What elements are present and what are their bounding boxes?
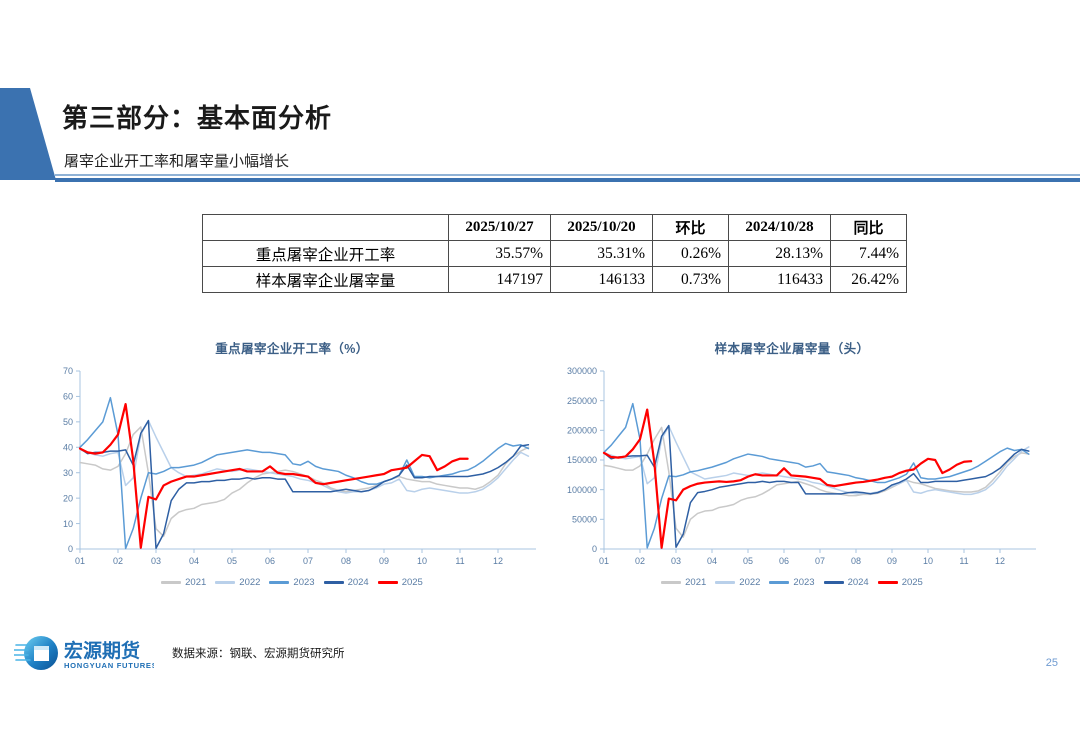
x-tick-label: 11 [455,556,464,566]
company-logo: 宏源期货 HONGYUAN FUTURES [14,634,154,676]
legend-swatch-2024 [324,581,344,583]
y-tick-label: 250000 [567,396,597,406]
header-rule [55,178,1080,182]
table-header-previous-date: 2025/10/20 [551,215,653,241]
legend-label-2023: 2023 [293,577,314,588]
y-tick-label: 100000 [567,485,597,495]
cell-wow-slaughter-volume: 0.73% [653,267,729,293]
legend-item-2021[interactable]: 2021 [661,577,706,588]
x-tick-label: 01 [599,556,609,566]
chart-legend-operating-rate: 20212022202320242025 [42,577,542,588]
logo-text-en: HONGYUAN FUTURES [64,661,154,670]
series-line-2021 [80,427,528,536]
page-title: 第三部分：基本面分析 [62,98,332,135]
header-rule-thin [55,174,1080,176]
legend-label-2025: 2025 [902,577,923,588]
legend-swatch-2023 [769,581,789,583]
x-tick-label: 11 [959,556,968,566]
x-tick-label: 06 [779,556,789,566]
x-tick-label: 02 [113,556,123,566]
plot-svg-slaughter-volume: 0500001000001500002000002500003000000102… [542,365,1042,571]
legend-swatch-2025 [378,581,398,584]
y-tick-label: 60 [63,392,73,402]
x-tick-label: 12 [995,556,1005,566]
legend-label-2024: 2024 [348,577,369,588]
legend-item-2025[interactable]: 2025 [878,577,923,588]
legend-item-2024[interactable]: 2024 [824,577,869,588]
x-tick-label: 09 [379,556,389,566]
series-line-2021 [604,427,1029,537]
legend-swatch-2022 [715,581,735,583]
cell-previous-slaughter-volume: 146133 [551,267,653,293]
plot-area-operating-rate: 010203040506070010203040506070809101112 [42,365,542,571]
y-tick-label: 50 [63,417,73,427]
series-line-2025 [80,404,468,548]
cell-current-slaughter-volume: 147197 [449,267,551,293]
x-tick-label: 08 [341,556,351,566]
legend-label-2024: 2024 [848,577,869,588]
y-tick-label: 150000 [567,455,597,465]
x-tick-label: 08 [851,556,861,566]
y-tick-label: 20 [63,493,73,503]
legend-item-2024[interactable]: 2024 [324,577,369,588]
legend-swatch-2023 [269,581,289,583]
y-tick-label: 0 [68,544,73,554]
legend-swatch-2021 [661,581,681,583]
legend-item-2025[interactable]: 2025 [378,577,423,588]
x-tick-label: 03 [671,556,681,566]
x-tick-label: 10 [923,556,933,566]
y-tick-label: 0 [592,544,597,554]
table-header-wow: 环比 [653,215,729,241]
x-tick-label: 07 [815,556,825,566]
legend-label-2025: 2025 [402,577,423,588]
table-header-row: 2025/10/27 2025/10/20 环比 2024/10/28 同比 [203,215,907,241]
row-label-slaughter-volume: 样本屠宰企业屠宰量 [203,267,449,293]
legend-item-2023[interactable]: 2023 [769,577,814,588]
source-note: 数据来源：钢联、宏源期货研究所 [172,645,345,661]
series-line-2024 [80,421,528,549]
table-header-current-date: 2025/10/27 [449,215,551,241]
row-label-operating-rate: 重点屠宰企业开工率 [203,241,449,267]
cell-year-ago-slaughter-volume: 116433 [729,267,831,293]
legend-item-2023[interactable]: 2023 [269,577,314,588]
legend-label-2022: 2022 [239,577,260,588]
legend-label-2021: 2021 [185,577,206,588]
legend-label-2022: 2022 [739,577,760,588]
plot-area-slaughter-volume: 0500001000001500002000002500003000000102… [542,365,1042,571]
x-tick-label: 04 [707,556,717,566]
chart-title-slaughter-volume: 样本屠宰企业屠宰量（头） [542,336,1042,357]
x-tick-label: 03 [151,556,161,566]
plot-svg-operating-rate: 010203040506070010203040506070809101112 [42,365,542,571]
cell-previous-operating-rate: 35.31% [551,241,653,267]
cell-current-operating-rate: 35.57% [449,241,551,267]
series-line-2022 [80,421,528,493]
legend-item-2022[interactable]: 2022 [715,577,760,588]
chart-slaughter-volume: 样本屠宰企业屠宰量（头） 050000100000150000200000250… [542,336,1042,626]
cell-yoy-slaughter-volume: 26.42% [831,267,907,293]
x-tick-label: 05 [227,556,237,566]
x-tick-label: 02 [635,556,645,566]
chart-operating-rate: 重点屠宰企业开工率（%） 010203040506070010203040506… [42,336,542,626]
chart-legend-slaughter-volume: 20212022202320242025 [542,577,1042,588]
series-line-2022 [604,426,1029,494]
chart-title-operating-rate: 重点屠宰企业开工率（%） [42,336,542,357]
x-tick-label: 05 [743,556,753,566]
y-tick-label: 50000 [572,515,597,525]
logo-text-cn: 宏源期货 [64,639,140,662]
x-tick-label: 10 [417,556,427,566]
y-tick-label: 300000 [567,366,597,376]
y-tick-label: 30 [63,468,73,478]
y-tick-label: 200000 [567,426,597,436]
x-tick-label: 06 [265,556,275,566]
y-tick-label: 70 [63,366,73,376]
logo-mark [14,636,58,670]
table-header-year-ago-date: 2024/10/28 [729,215,831,241]
x-tick-label: 07 [303,556,313,566]
legend-swatch-2025 [878,581,898,584]
y-tick-label: 40 [63,442,73,452]
series-line-2023 [604,404,1029,548]
legend-label-2021: 2021 [685,577,706,588]
cell-yoy-operating-rate: 7.44% [831,241,907,267]
x-tick-label: 04 [189,556,199,566]
legend-item-2021[interactable]: 2021 [161,577,206,588]
legend-item-2022[interactable]: 2022 [215,577,260,588]
y-tick-label: 10 [63,519,73,529]
legend-label-2023: 2023 [793,577,814,588]
page-number: 25 [1046,657,1058,669]
cell-year-ago-operating-rate: 28.13% [729,241,831,267]
series-line-2023 [80,398,528,549]
legend-swatch-2022 [215,581,235,583]
legend-swatch-2024 [824,581,844,583]
table-header-blank [203,215,449,241]
x-tick-label: 01 [75,556,85,566]
page-subtitle: 屠宰企业开工率和屠宰量小幅增长 [64,150,289,171]
summary-table: 2025/10/27 2025/10/20 环比 2024/10/28 同比 重… [202,214,907,293]
cell-wow-operating-rate: 0.26% [653,241,729,267]
series-line-2024 [604,426,1029,548]
legend-swatch-2021 [161,581,181,583]
x-tick-label: 12 [493,556,503,566]
table-header-yoy: 同比 [831,215,907,241]
table-row: 重点屠宰企业开工率 35.57% 35.31% 0.26% 28.13% 7.4… [203,241,907,267]
table-row: 样本屠宰企业屠宰量 147197 146133 0.73% 116433 26.… [203,267,907,293]
x-tick-label: 09 [887,556,897,566]
header-accent-shape [0,88,56,180]
